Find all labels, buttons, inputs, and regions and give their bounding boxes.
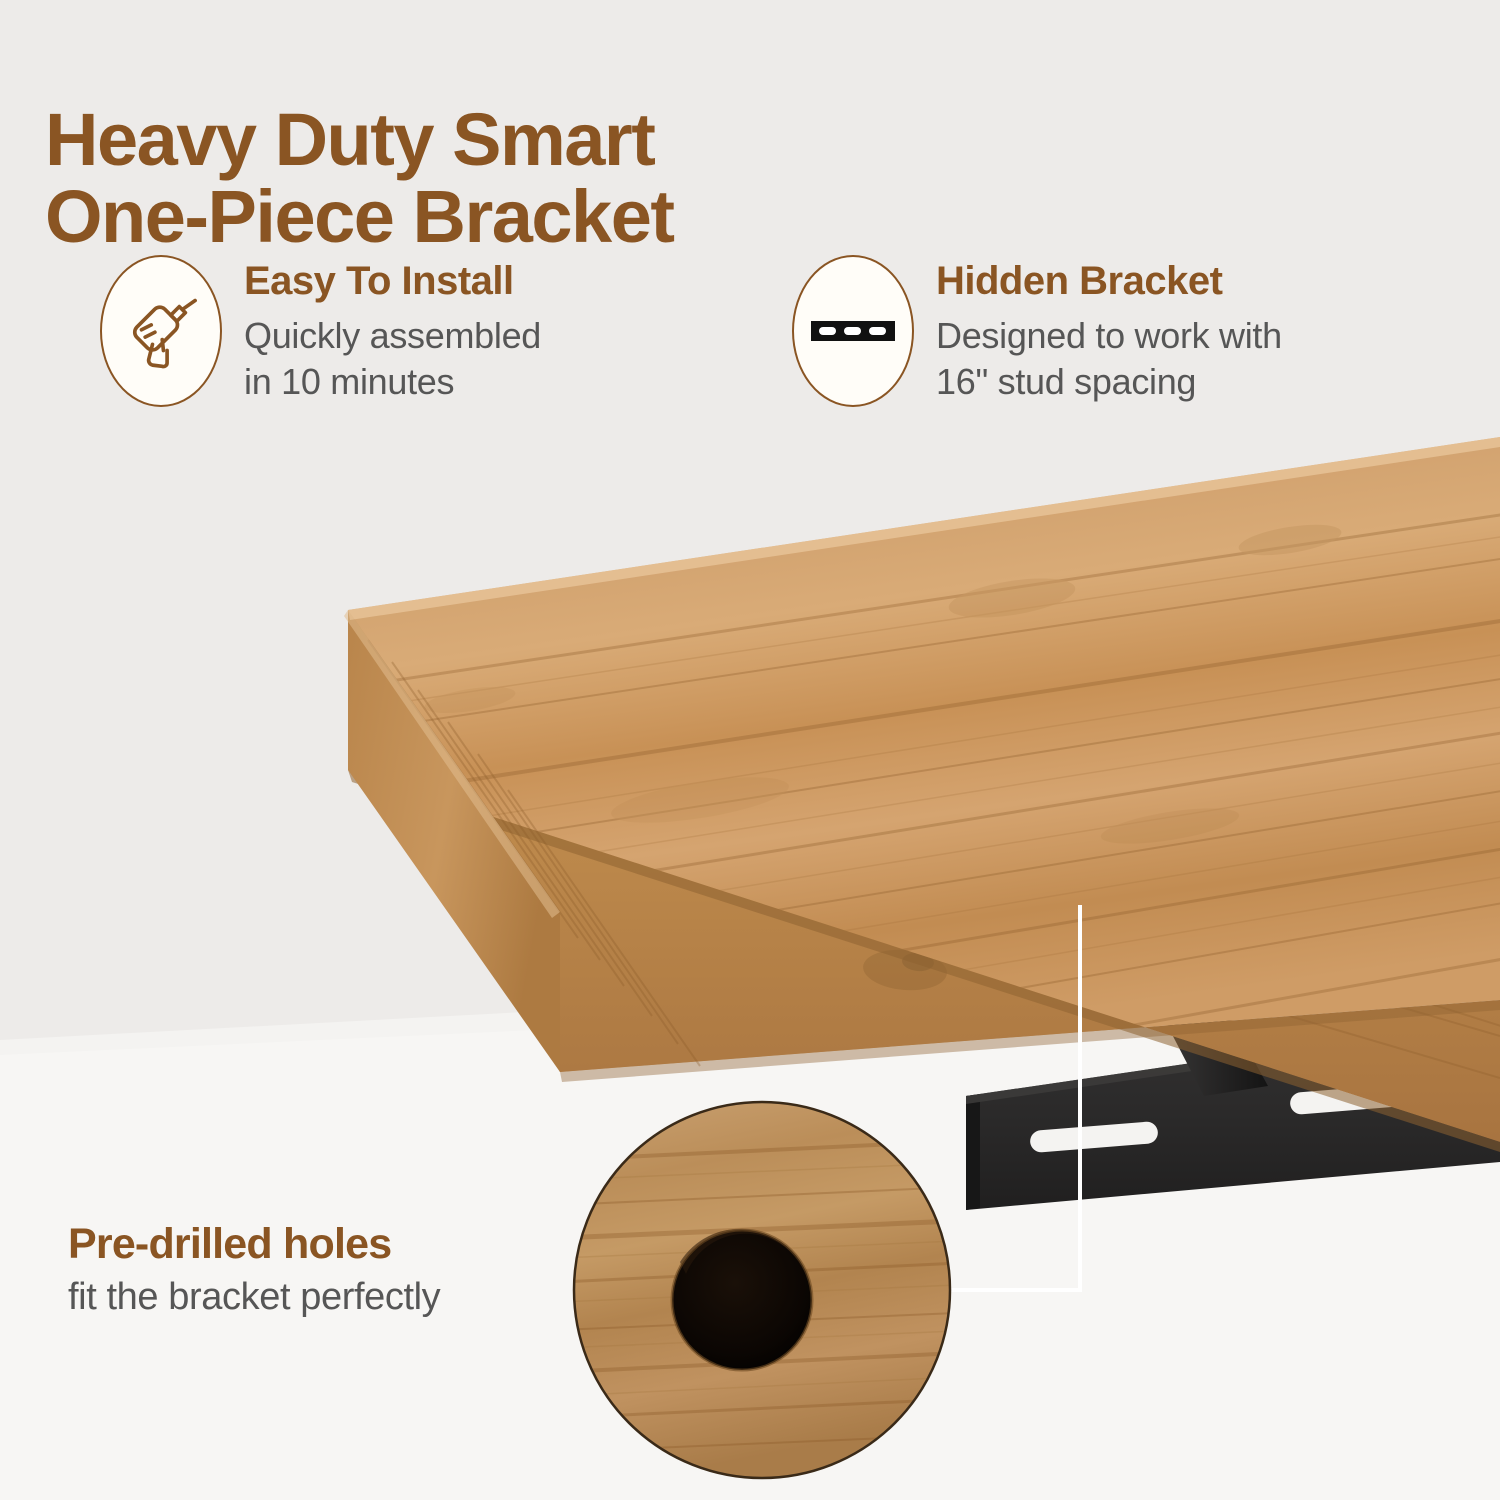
feature-icon-badge: [100, 255, 222, 407]
caption-subtitle: fit the bracket perfectly: [68, 1277, 440, 1319]
pre-drilled-hole: [672, 1229, 812, 1370]
page-title: Heavy Duty Smart One-Piece Bracket: [45, 102, 674, 256]
bracket-bar-icon: [811, 311, 895, 351]
feature-title: Easy To Install: [244, 259, 541, 303]
feature-text: Easy To Install Quickly assembled in 10 …: [244, 255, 541, 405]
feature-easy-to-install: Easy To Install Quickly assembled in 10 …: [100, 255, 541, 407]
infographic-canvas: Heavy Duty Smart One-Piece Bracket Easy …: [0, 0, 1500, 1500]
feature-subtitle: Designed to work with 16" stud spacing: [936, 313, 1282, 405]
feature-title: Hidden Bracket: [936, 259, 1282, 303]
feature-subtitle: Quickly assembled in 10 minutes: [244, 313, 541, 405]
feature-text: Hidden Bracket Designed to work with 16"…: [936, 255, 1282, 405]
feature-icon-badge: [792, 255, 914, 407]
feature-hidden-bracket: Hidden Bracket Designed to work with 16"…: [792, 255, 1282, 407]
pre-drilled-holes-caption: Pre-drilled holes fit the bracket perfec…: [68, 1222, 440, 1319]
caption-title: Pre-drilled holes: [68, 1222, 440, 1267]
drill-icon: [122, 292, 200, 370]
